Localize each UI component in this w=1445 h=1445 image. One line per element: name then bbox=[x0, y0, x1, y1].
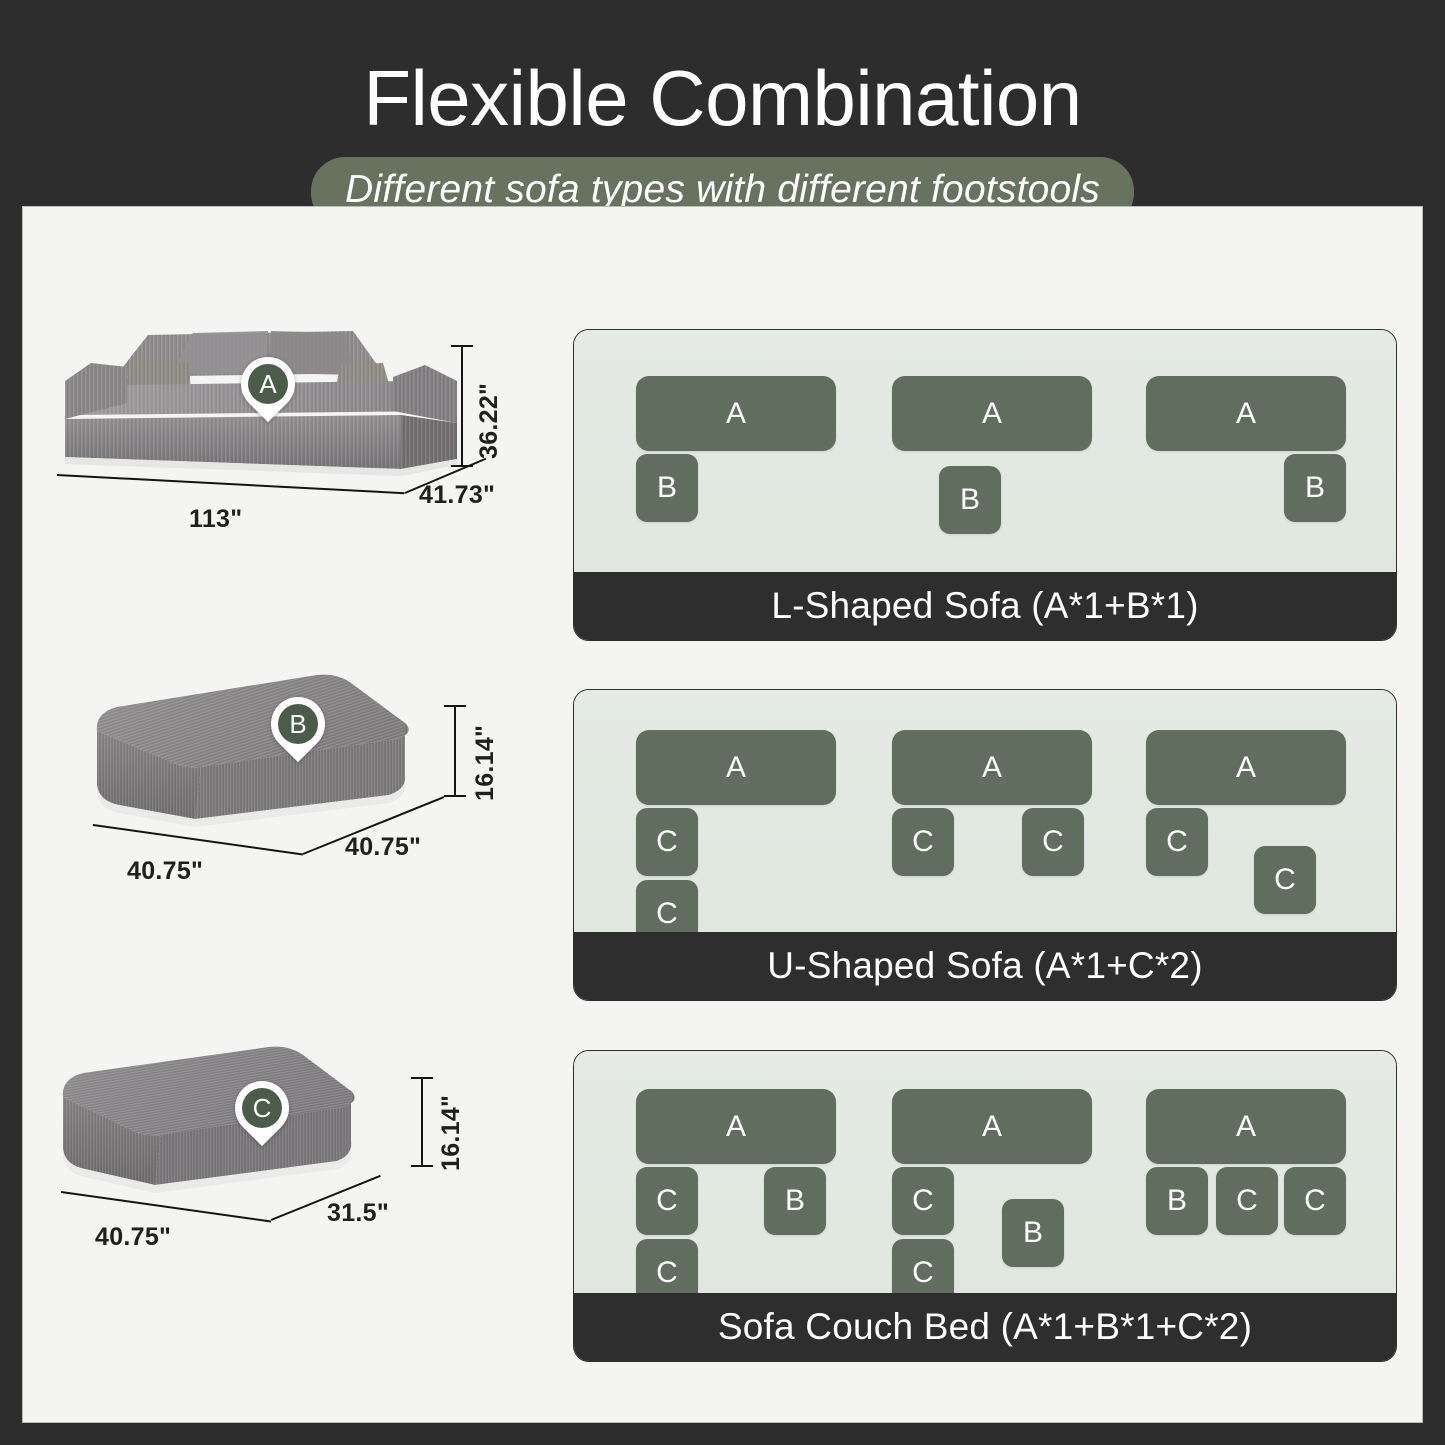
module-b: B bbox=[1146, 1167, 1208, 1235]
combo-diagram-sofa-couch-bed: A C C B A C C B A B C C bbox=[574, 1051, 1396, 1295]
module-b: B bbox=[764, 1167, 826, 1235]
dim-rule-height-a bbox=[461, 345, 463, 467]
module-b: B bbox=[636, 454, 698, 522]
dim-cap-top-b bbox=[444, 705, 466, 707]
combination-column: A B A B A B L-Shaped Sofa (A*1+B*1) A C bbox=[573, 207, 1424, 1422]
dim-width-a: 113" bbox=[189, 505, 242, 534]
combo-diagram-l-shaped: A B A B A B bbox=[574, 330, 1396, 574]
module-a: A bbox=[636, 1089, 836, 1164]
dim-cap-top-a bbox=[451, 345, 473, 347]
dim-height-b: 16.14" bbox=[471, 725, 500, 801]
module-a: A bbox=[1146, 730, 1346, 805]
combination-panel-sofa-couch-bed[interactable]: A C C B A C C B A B C C Sofa Couch Bed (… bbox=[573, 1050, 1397, 1362]
pin-marker-b: B bbox=[271, 697, 325, 765]
module-c: C bbox=[1216, 1167, 1278, 1235]
module-a: A bbox=[892, 1089, 1092, 1164]
dim-width-b: 40.75" bbox=[127, 857, 203, 886]
module-a: A bbox=[892, 376, 1092, 451]
module-c: C bbox=[1022, 808, 1084, 876]
pin-marker-c: C bbox=[235, 1081, 289, 1149]
module-c: C bbox=[1146, 808, 1208, 876]
module-b: B bbox=[1284, 454, 1346, 522]
dim-depth-a: 41.73" bbox=[419, 481, 495, 510]
module-a: A bbox=[1146, 1089, 1346, 1164]
pin-label-a: A bbox=[248, 364, 288, 404]
dim-height-a: 36.22" bbox=[475, 383, 504, 459]
dim-depth-c: 31.5" bbox=[327, 1199, 389, 1228]
dim-rule-height-b bbox=[454, 705, 456, 797]
module-c: C bbox=[636, 1167, 698, 1235]
dim-cap-bottom-c bbox=[411, 1165, 433, 1167]
infographic-poster: Flexible Combination Different sofa type… bbox=[0, 0, 1445, 1445]
pin-marker-a: A bbox=[241, 357, 295, 425]
module-a: A bbox=[636, 730, 836, 805]
module-a: A bbox=[1146, 376, 1346, 451]
dim-depth-b: 40.75" bbox=[345, 833, 421, 862]
pin-label-b: B bbox=[278, 704, 318, 744]
product-column: A 113" 41.73" 36.22" bbox=[23, 207, 571, 1422]
product-figure-a: A 113" 41.73" 36.22" bbox=[23, 319, 571, 563]
module-b: B bbox=[939, 466, 1001, 534]
dim-cap-bottom-b bbox=[444, 795, 466, 797]
module-c: C bbox=[636, 808, 698, 876]
dim-width-c: 40.75" bbox=[95, 1223, 171, 1252]
combo-diagram-u-shaped: A C C A C C A C C bbox=[574, 690, 1396, 934]
product-figure-c: C 40.75" 31.5" 16.14" bbox=[23, 1039, 571, 1283]
module-a: A bbox=[892, 730, 1092, 805]
module-c: C bbox=[892, 1167, 954, 1235]
module-c: C bbox=[1284, 1167, 1346, 1235]
combo-caption-sofa-couch-bed: Sofa Couch Bed (A*1+B*1+C*2) bbox=[574, 1293, 1396, 1361]
combo-caption-l-shaped: L-Shaped Sofa (A*1+B*1) bbox=[574, 572, 1396, 640]
module-c: C bbox=[892, 808, 954, 876]
combination-panel-u-shaped[interactable]: A C C A C C A C C U-Shaped Sofa (A*1+C*2… bbox=[573, 689, 1397, 1001]
dim-rule-height-c bbox=[421, 1077, 423, 1167]
content-frame: A 113" 41.73" 36.22" bbox=[22, 206, 1423, 1423]
module-a: A bbox=[636, 376, 836, 451]
combination-panel-l-shaped[interactable]: A B A B A B L-Shaped Sofa (A*1+B*1) bbox=[573, 329, 1397, 641]
dim-height-c: 16.14" bbox=[437, 1095, 466, 1171]
pin-label-c: C bbox=[242, 1088, 282, 1128]
dim-cap-bottom-a bbox=[451, 465, 473, 467]
product-figure-b: B 40.75" 40.75" 16.14" bbox=[23, 669, 571, 913]
combo-caption-u-shaped: U-Shaped Sofa (A*1+C*2) bbox=[574, 932, 1396, 1000]
module-b: B bbox=[1002, 1199, 1064, 1267]
module-c: C bbox=[1254, 846, 1316, 914]
dim-cap-top-c bbox=[411, 1077, 433, 1079]
page-title: Flexible Combination bbox=[0, 55, 1445, 141]
